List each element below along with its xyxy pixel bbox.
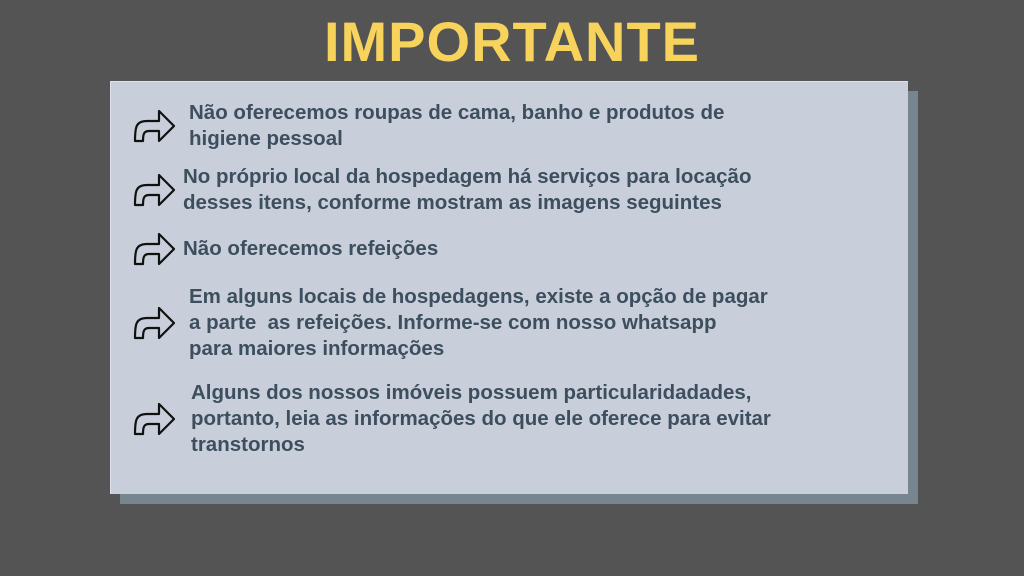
content-panel: Não oferecemos roupas de cama, banho e p…	[110, 81, 908, 494]
bullet-list: Não oferecemos roupas de cama, banho e p…	[111, 82, 908, 494]
list-item-label: No próprio local da hospedagem há serviç…	[183, 164, 752, 216]
page-title: IMPORTANTE	[0, 12, 1024, 72]
list-item: Não oferecemos roupas de cama, banho e p…	[131, 100, 890, 152]
list-item-label: Em alguns locais de hospedagens, existe …	[189, 284, 768, 362]
list-item-label: Não oferecemos refeições	[183, 236, 438, 262]
right-arrow-icon	[131, 228, 177, 270]
right-arrow-icon	[131, 169, 177, 211]
list-item: No próprio local da hospedagem há serviç…	[131, 164, 890, 216]
list-item: Alguns dos nossos imóveis possuem partic…	[131, 380, 890, 458]
slide-root: IMPORTANTE Não oferecemos roupas de cama…	[0, 0, 1024, 576]
list-item-label: Alguns dos nossos imóveis possuem partic…	[191, 380, 771, 458]
list-item: Em alguns locais de hospedagens, existe …	[131, 284, 890, 362]
list-item: Não oferecemos refeições	[131, 228, 890, 270]
right-arrow-icon	[131, 302, 177, 344]
list-item-label: Não oferecemos roupas de cama, banho e p…	[189, 100, 724, 152]
right-arrow-icon	[131, 398, 177, 440]
right-arrow-icon	[131, 105, 177, 147]
